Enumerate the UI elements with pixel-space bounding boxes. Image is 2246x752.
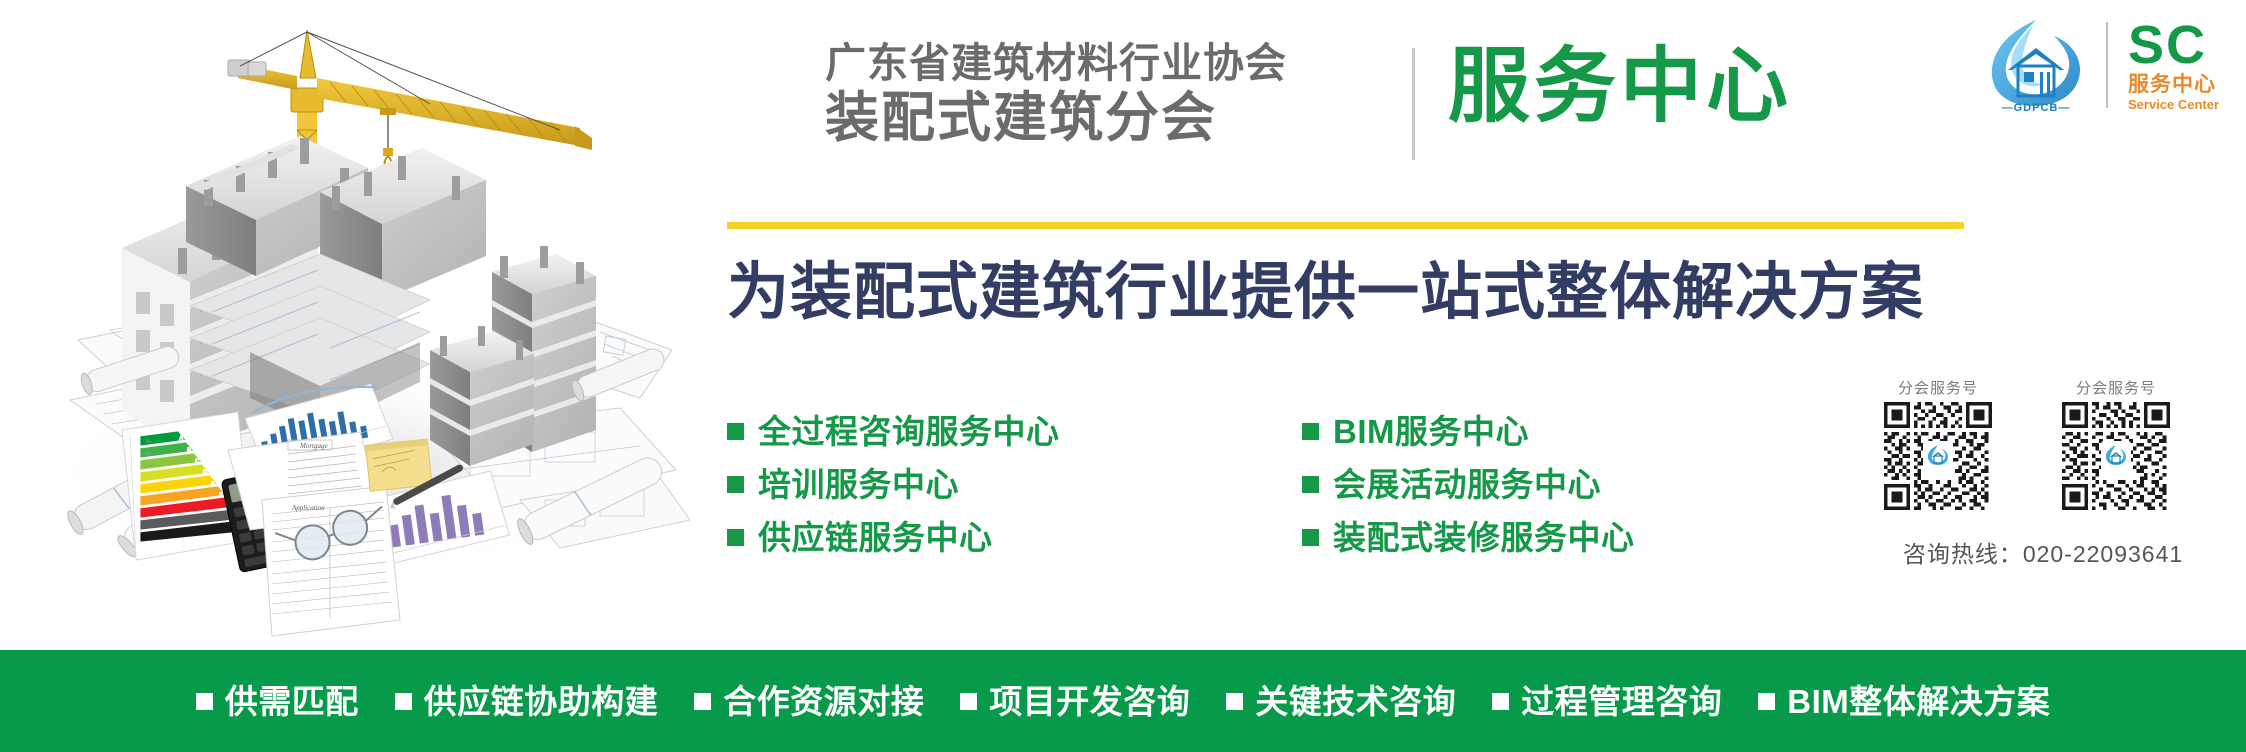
svg-text:Mortgage: Mortgage [299, 442, 328, 450]
svg-text:Application: Application [291, 504, 325, 512]
qr-code-area: 分会服务号 [1840, 380, 2246, 580]
service-list-right-column: BIM服务中心 会展活动服务中心 装配式装修服务中心 [1302, 405, 1635, 564]
title-vertical-divider [1412, 48, 1415, 160]
qr-code-image-1[interactable] [1884, 402, 1992, 510]
bottom-bar-item[interactable]: 供应链协助构建 [395, 685, 659, 718]
sc-service-center-logo: SC 服务中心 Service Center [2128, 18, 2246, 114]
gdpcb-logo-text: —GDPCB— [2002, 102, 2071, 114]
square-bullet-icon [727, 476, 744, 493]
qr-label-2: 分会服务号 [2036, 380, 2196, 398]
bottom-bar-item-label: BIM整体解决方案 [1787, 685, 2050, 718]
bottom-bar-item-label: 过程管理咨询 [1521, 685, 1722, 718]
association-title-block: 广东省建筑材料行业协会 装配式建筑分会 [825, 40, 1415, 170]
square-bullet-icon [395, 693, 412, 710]
hotline-text: 咨询热线：020-22093641 [1840, 540, 2246, 568]
svg-text:A+: A+ [146, 439, 152, 445]
bottom-bar-item-label: 供需匹配 [225, 685, 359, 718]
list-item[interactable]: 供应链服务中心 [727, 511, 1060, 564]
crane-hook [380, 108, 396, 168]
page-title: 为装配式建筑行业提供一站式整体解决方案 [727, 258, 1924, 328]
logo-divider [2106, 22, 2108, 108]
square-bullet-icon [960, 693, 977, 710]
sc-letters: SC [2128, 18, 2246, 72]
list-item[interactable]: 装配式装修服务中心 [1302, 511, 1635, 564]
association-name-line1: 广东省建筑材料行业协会 [825, 40, 1415, 86]
bottom-service-bar: 供需匹配 供应链协助构建 合作资源对接 项目开发咨询 关键技术咨询 过程管理咨询… [0, 650, 2246, 752]
qr-embedded-logo-2 [2101, 441, 2131, 471]
service-center-heading: 服务中心 [1448, 44, 1792, 130]
qr-label-1: 分会服务号 [1858, 380, 2018, 398]
list-item[interactable]: BIM服务中心 [1302, 405, 1635, 458]
svg-text:C+: C+ [146, 463, 153, 469]
yellow-divider-rule [727, 222, 1964, 229]
square-bullet-icon [1758, 693, 1775, 710]
bottom-bar-item[interactable]: BIM整体解决方案 [1758, 685, 2050, 718]
qr-logo-svg-2 [2103, 443, 2129, 469]
list-item-label: 供应链服务中心 [758, 521, 993, 554]
qr-embedded-logo-1 [1923, 441, 1953, 471]
list-item-label: 全过程咨询服务中心 [758, 415, 1060, 448]
square-bullet-icon [694, 693, 711, 710]
sc-english-label: Service Center [2128, 97, 2246, 112]
bottom-bar-item-label: 关键技术咨询 [1255, 685, 1456, 718]
bottom-bar-item-label: 供应链协助构建 [424, 685, 659, 718]
qr-code-image-2[interactable] [2062, 402, 2170, 510]
square-bullet-icon [196, 693, 213, 710]
bottom-bar-item[interactable]: 过程管理咨询 [1492, 685, 1722, 718]
list-item-label: 培训服务中心 [758, 468, 959, 501]
qr-block-2: 分会服务号 [2036, 380, 2196, 510]
square-bullet-icon [1226, 693, 1243, 710]
bottom-bar-items: 供需匹配 供应链协助构建 合作资源对接 项目开发咨询 关键技术咨询 过程管理咨询… [178, 685, 2069, 718]
square-bullet-icon [1492, 693, 1509, 710]
sc-chinese-label: 服务中心 [2128, 73, 2246, 97]
svg-text:A: A [179, 436, 184, 442]
sticky-note [365, 439, 431, 491]
svg-text:B+: B+ [146, 451, 152, 457]
construction-site-illustration: A B C D E F G H I A+B+C+ [0, 0, 690, 650]
gdpcb-logo-svg: —GDPCB— [1978, 14, 2094, 114]
gdpcb-house-flame-logo: —GDPCB— [1978, 14, 2094, 114]
list-item-label: BIM服务中心 [1333, 415, 1529, 448]
square-bullet-icon [1302, 529, 1319, 546]
bottom-bar-item[interactable]: 关键技术咨询 [1226, 685, 1456, 718]
bottom-bar-item[interactable]: 供需匹配 [196, 685, 359, 718]
square-bullet-icon [1302, 423, 1319, 440]
list-item-label: 装配式装修服务中心 [1333, 521, 1635, 554]
bottom-bar-item-label: 项目开发咨询 [989, 685, 1190, 718]
bottom-bar-item-label: 合作资源对接 [723, 685, 924, 718]
construction-render-svg: A B C D E F G H I A+B+C+ [0, 0, 690, 650]
service-center-list: 全过程咨询服务中心 培训服务中心 供应链服务中心 BIM服务中心 会展活动服务中… [727, 405, 1807, 565]
qr-logo-svg-1 [1925, 443, 1951, 469]
right-low-block [430, 326, 534, 466]
bottom-bar-item[interactable]: 项目开发咨询 [960, 685, 1190, 718]
service-list-left-column: 全过程咨询服务中心 培训服务中心 供应链服务中心 [727, 405, 1060, 564]
brand-logo-group: —GDPCB— SC 服务中心 Service Center [1978, 14, 2246, 114]
square-bullet-icon [1302, 476, 1319, 493]
list-item-label: 会展活动服务中心 [1333, 468, 1601, 501]
square-bullet-icon [727, 423, 744, 440]
list-item[interactable]: 全过程咨询服务中心 [727, 405, 1060, 458]
square-bullet-icon [727, 529, 744, 546]
list-item[interactable]: 培训服务中心 [727, 458, 1060, 511]
association-name-line2: 装配式建筑分会 [825, 88, 1415, 148]
list-item[interactable]: 会展活动服务中心 [1302, 458, 1635, 511]
bottom-bar-item[interactable]: 合作资源对接 [694, 685, 924, 718]
qr-block-1: 分会服务号 [1858, 380, 2018, 510]
